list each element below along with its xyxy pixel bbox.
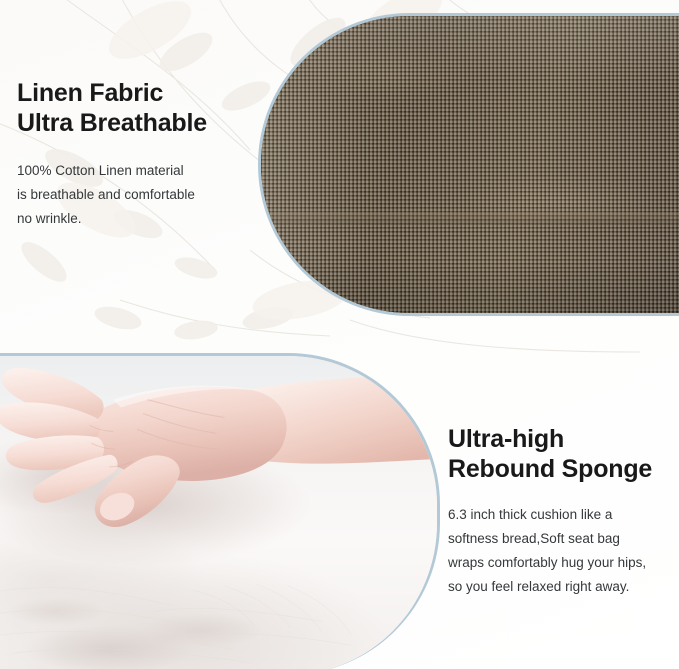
feature-sponge-headline-line2: Rebound Sponge: [448, 454, 676, 484]
feature-sponge-description-line2: softness bread,Soft seat bag: [448, 527, 676, 551]
feature-linen-description-line3: no wrinkle.: [17, 207, 247, 231]
linen-lighting-sheen: [261, 16, 679, 313]
feature-linen-description: 100% Cotton Linen material is breathable…: [17, 159, 247, 231]
feature-linen-headline-line2: Ultra Breathable: [17, 108, 247, 138]
linen-fabric-image-panel: [258, 13, 679, 316]
feature-sponge-description-line4: so you feel relaxed right away.: [448, 575, 676, 599]
feature-sponge-text-block: Ultra-high Rebound Sponge 6.3 inch thick…: [448, 424, 676, 599]
foam-sponge-image-panel: [0, 353, 440, 669]
feature-sponge-description: 6.3 inch thick cushion like a softness b…: [448, 503, 676, 599]
feature-linen-description-line2: is breathable and comfortable: [17, 183, 247, 207]
product-feature-infographic: Linen Fabric Ultra Breathable 100% Cotto…: [0, 0, 679, 669]
hand-pressing-foam-photo: [0, 356, 437, 669]
feature-linen-text-block: Linen Fabric Ultra Breathable 100% Cotto…: [17, 78, 247, 231]
feature-sponge-headline-line1: Ultra-high: [448, 424, 676, 454]
feature-linen-headline-line1: Linen Fabric: [17, 78, 247, 108]
feature-linen-description-line1: 100% Cotton Linen material: [17, 159, 247, 183]
feature-sponge-description-line3: wraps comfortably hug your hips,: [448, 551, 676, 575]
feature-sponge-description-line1: 6.3 inch thick cushion like a: [448, 503, 676, 527]
